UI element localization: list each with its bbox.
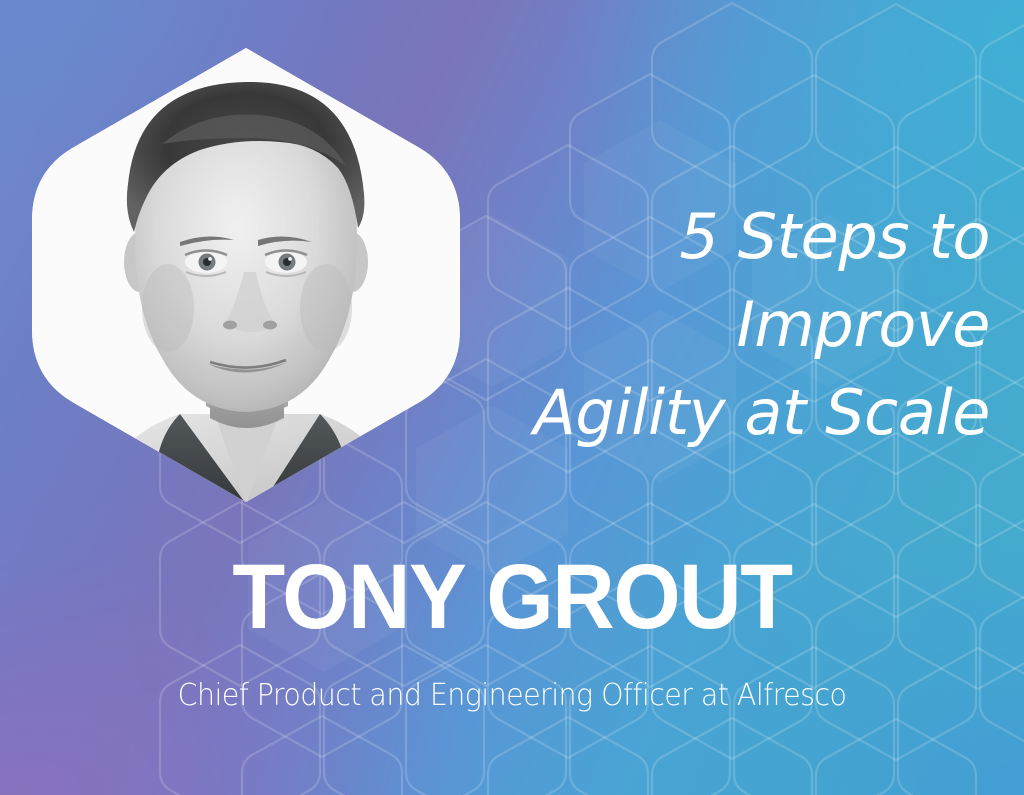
portrait-photo — [30, 46, 462, 504]
hexagon-photo-frame-icon — [30, 46, 462, 504]
speaker-name: TONY GROUT — [31, 551, 994, 643]
webinar-title: 5 Steps to Improve Agility at Scale — [430, 193, 990, 457]
speaker-role: Chief Product and Engineering Officer at… — [26, 678, 999, 714]
speaker-promo-card: 5 Steps to Improve Agility at Scale TONY… — [0, 0, 1024, 795]
